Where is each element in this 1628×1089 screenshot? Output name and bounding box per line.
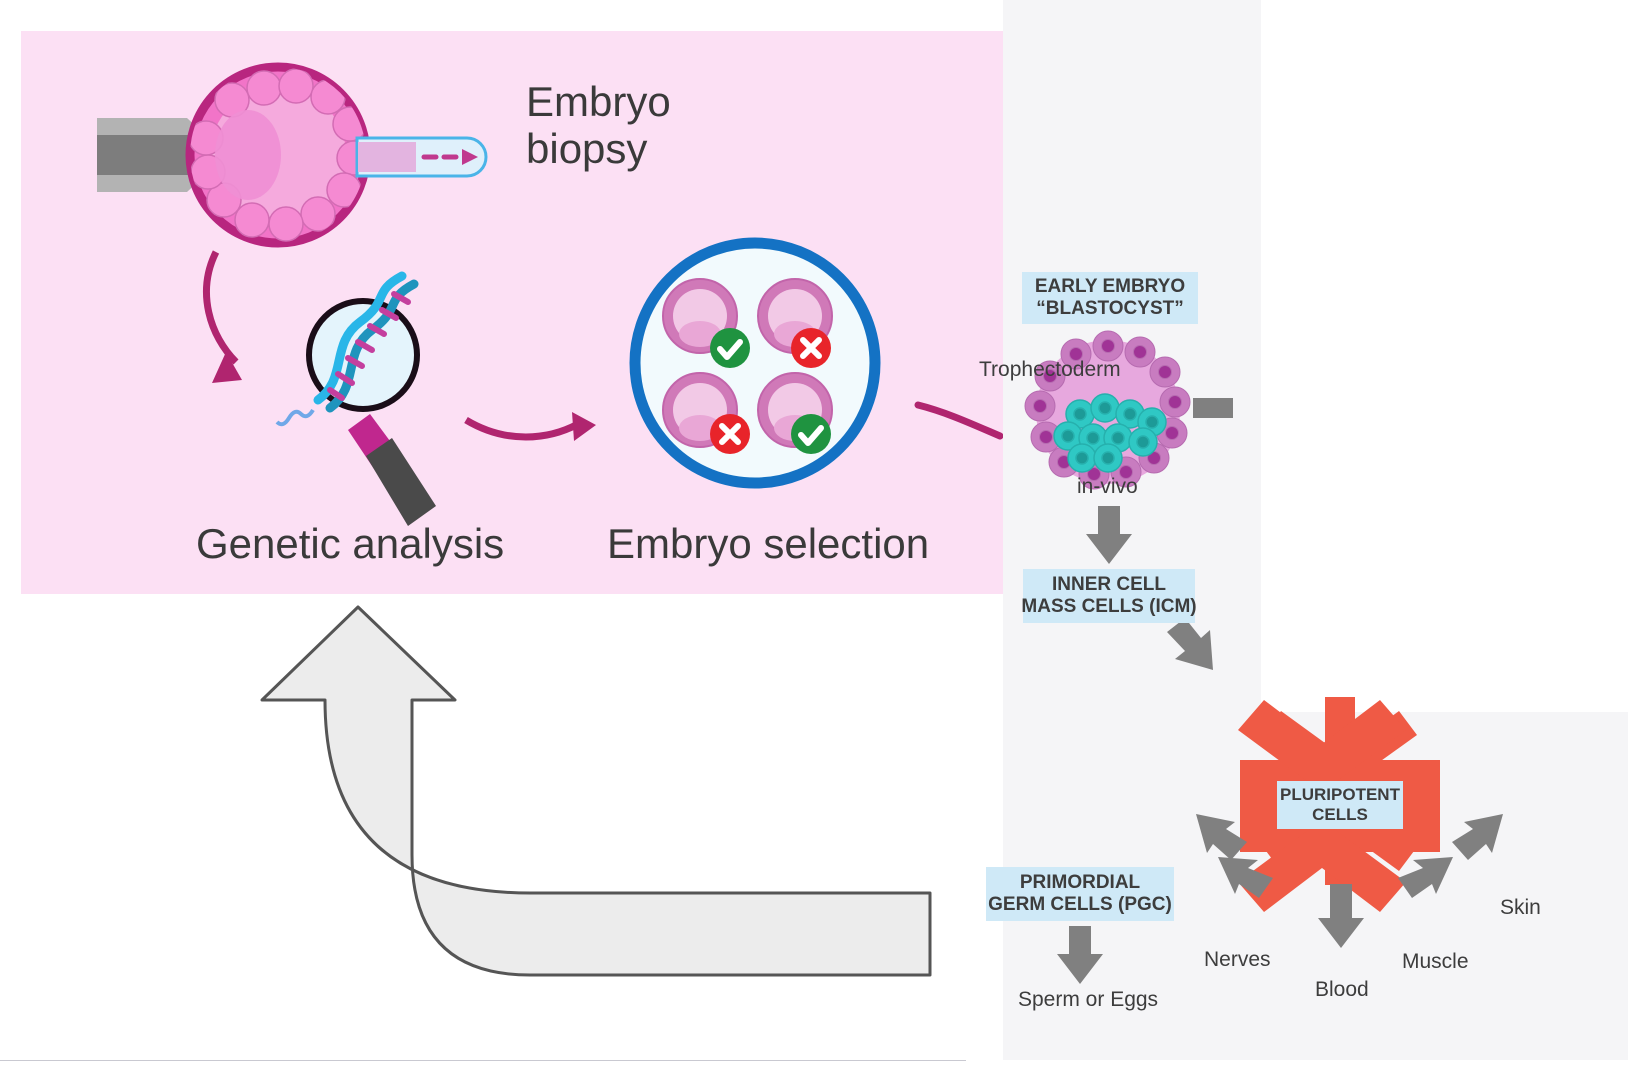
label-embryo-selection: Embryo selection — [607, 520, 929, 567]
annotation-in-vivo: in-vivo — [1077, 475, 1138, 499]
outcome-label-blood: Blood — [1315, 978, 1369, 1002]
outcome-label-skin: Skin — [1500, 896, 1541, 920]
node-inner-cell-mass: INNER CELL MASS CELLS (ICM) — [1023, 569, 1195, 623]
white-cutout-block — [1261, 0, 1628, 712]
annotation-trophectoderm: Trophectoderm — [979, 358, 1121, 382]
pgt-workflow-panel — [21, 31, 1003, 594]
outcome-label-nerves: Nerves — [1204, 948, 1271, 972]
label-embryo-biopsy: Embryo biopsy — [526, 78, 671, 172]
node-primordial-germ-cells: PRIMORDIAL GERM CELLS (PGC) — [986, 867, 1174, 921]
node-early-embryo: EARLY EMBRYO “BLASTOCYST” — [1022, 272, 1198, 324]
figure-canvas: Embryo biopsy Genetic analysis Embryo se… — [0, 0, 1628, 1089]
outcome-label-muscle: Muscle — [1402, 950, 1469, 974]
outcome-label-sperm-or-eggs: Sperm or Eggs — [1018, 988, 1158, 1012]
label-genetic-analysis: Genetic analysis — [196, 520, 504, 567]
node-pluripotent-cells: PLURIPOTENT CELLS — [1277, 781, 1403, 829]
